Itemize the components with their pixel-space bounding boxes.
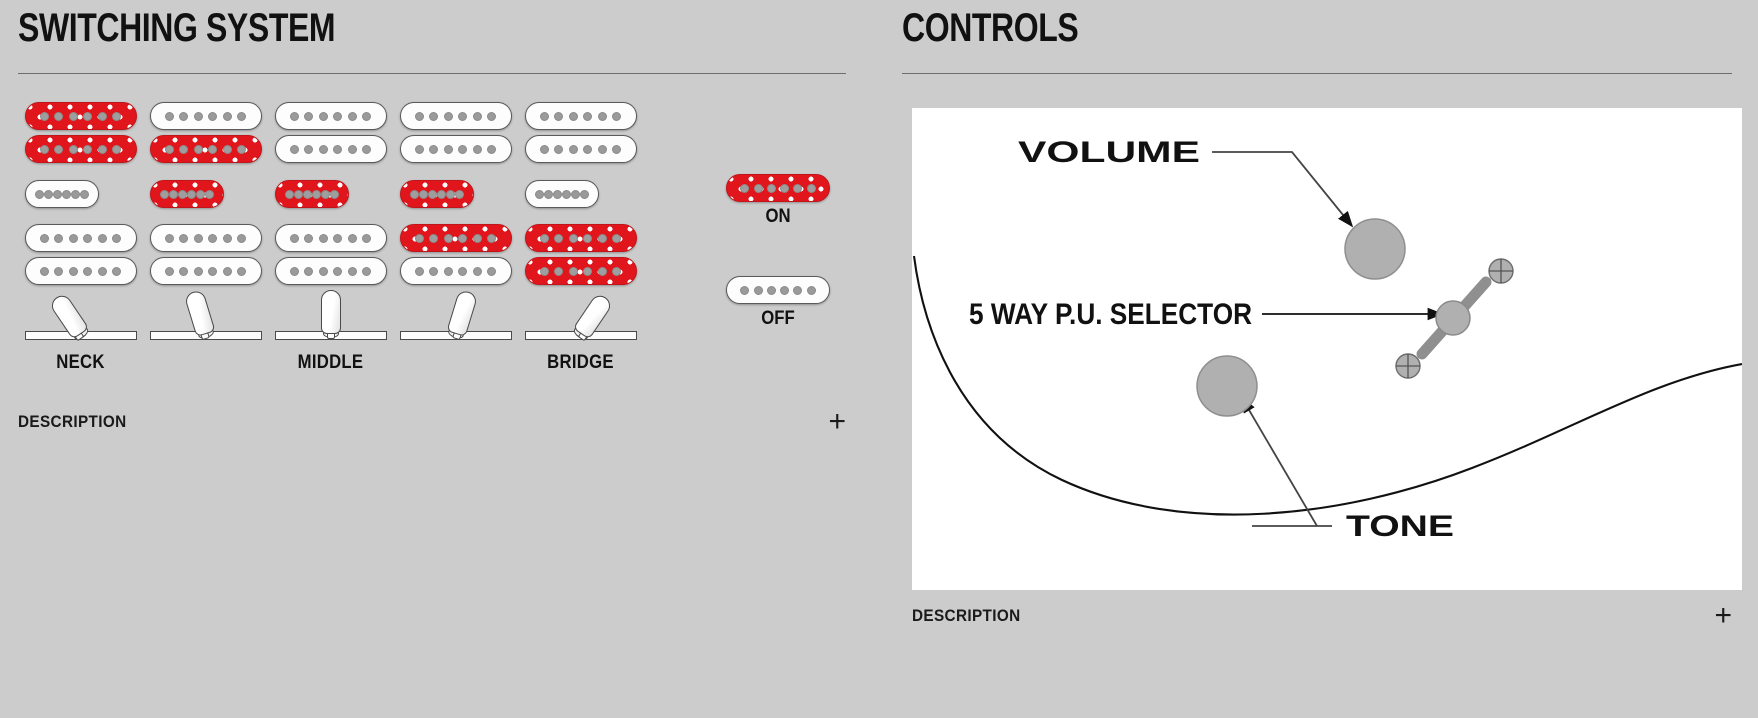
- tone-leader-line: [1242, 398, 1317, 526]
- pole-piece: [179, 234, 188, 243]
- pole-piece: [415, 234, 424, 243]
- pole-piece: [444, 145, 453, 154]
- pole-piece: [179, 145, 188, 154]
- pickup-neck-humbucker: [400, 102, 512, 164]
- pickup-coil-on: [525, 224, 637, 252]
- pole-piece: [165, 234, 174, 243]
- pole-piece: [544, 190, 553, 199]
- row-spacer: [518, 164, 643, 180]
- pole-piece: [535, 190, 544, 199]
- pole-piece: [98, 234, 107, 243]
- title-divider-switching: [18, 73, 846, 74]
- lever-switch-4[interactable]: [400, 286, 512, 350]
- pickup-coil-off: [25, 257, 137, 285]
- row-spacer: [268, 164, 393, 180]
- pickup-coil-off: [25, 180, 99, 208]
- tone-knob[interactable]: [1197, 356, 1257, 416]
- pole-piece: [208, 234, 217, 243]
- position-label-5: BRIDGE: [526, 352, 636, 374]
- pickup-neck-humbucker: [150, 102, 262, 164]
- description-bar-controls[interactable]: DESCRIPTION +: [912, 606, 1732, 626]
- pole-piece: [321, 190, 330, 199]
- volume-knob[interactable]: [1345, 219, 1405, 279]
- pole-piece: [444, 234, 453, 243]
- pole-piece: [303, 190, 312, 199]
- pole-piece: [69, 112, 78, 121]
- pickup-bridge-humbucker: [275, 224, 387, 286]
- pole-piece: [237, 234, 246, 243]
- pole-piece: [458, 267, 467, 276]
- lever-switch-1[interactable]: [25, 286, 137, 350]
- pole-piece: [223, 267, 232, 276]
- pickup-coil-off: [150, 224, 262, 252]
- pickup-coil-off: [275, 224, 387, 252]
- description-label-controls: DESCRIPTION: [912, 606, 1021, 626]
- pole-piece: [208, 112, 217, 121]
- pole-piece: [69, 267, 78, 276]
- pole-piece: [112, 112, 121, 121]
- pole-piece: [54, 267, 63, 276]
- pole-piece: [458, 145, 467, 154]
- pole-piece: [612, 234, 621, 243]
- pickup-neck-humbucker: [275, 102, 387, 164]
- pole-piece: [362, 267, 371, 276]
- pole-piece: [223, 145, 232, 154]
- pole-piece: [333, 267, 342, 276]
- pole-piece: [429, 267, 438, 276]
- pole-piece: [487, 234, 496, 243]
- pickup-bridge-humbucker: [25, 224, 137, 286]
- lever-switch-2[interactable]: [150, 286, 262, 350]
- guitar-body-outline: [914, 256, 1742, 515]
- pole-piece: [540, 112, 549, 121]
- pole-piece: [458, 234, 467, 243]
- pole-piece: [473, 234, 482, 243]
- lever-knob[interactable]: [321, 290, 341, 334]
- pole-piece: [473, 267, 482, 276]
- row-spacer: [268, 208, 393, 224]
- controls-diagram: VOLUME 5 WAY P.U. SELECTOR TONE: [912, 108, 1742, 590]
- pole-piece: [290, 267, 299, 276]
- plus-icon[interactable]: +: [1714, 606, 1732, 626]
- pole-piece: [83, 234, 92, 243]
- pole-piece: [194, 267, 203, 276]
- pickup-coil-off: [400, 135, 512, 163]
- title-divider-controls: [902, 73, 1732, 74]
- legend-coil-off: [726, 276, 830, 304]
- pole-piece: [793, 286, 802, 295]
- pole-piece: [304, 267, 313, 276]
- lever-knob[interactable]: [446, 289, 478, 337]
- pickup-middle-singlecoil: [275, 180, 387, 208]
- selector-screw-upper: [1489, 259, 1513, 283]
- pole-piece: [54, 234, 63, 243]
- row-spacer: [393, 164, 518, 180]
- pole-piece: [362, 112, 371, 121]
- pole-piece: [598, 267, 607, 276]
- pole-piece: [444, 267, 453, 276]
- pole-piece: [285, 190, 294, 199]
- pole-piece: [330, 190, 339, 199]
- pickup-coil-on: [275, 180, 349, 208]
- pole-piece: [429, 112, 438, 121]
- pickup-coil-on: [400, 180, 474, 208]
- pole-piece: [571, 190, 580, 199]
- pickup-neck-humbucker: [25, 102, 137, 164]
- pole-piece: [754, 184, 763, 193]
- pole-piece: [754, 286, 763, 295]
- pickup-coil-off: [525, 102, 637, 130]
- pole-piece: [540, 234, 549, 243]
- pole-piece: [554, 112, 563, 121]
- legend-coil-on: [726, 174, 830, 202]
- pole-piece: [40, 234, 49, 243]
- legend-label-off: OFF: [725, 308, 831, 330]
- pickup-coil-off: [400, 257, 512, 285]
- pole-piece: [112, 145, 121, 154]
- pole-piece: [179, 112, 188, 121]
- pole-piece: [429, 145, 438, 154]
- pole-piece: [237, 145, 246, 154]
- pole-piece: [304, 234, 313, 243]
- pole-piece: [333, 112, 342, 121]
- page-title-switching: SWITCHING SYSTEM: [18, 0, 680, 51]
- position-label-3: MIDDLE: [276, 352, 386, 374]
- description-label-switching: DESCRIPTION: [18, 412, 127, 432]
- pole-piece: [569, 112, 578, 121]
- pole-piece: [419, 190, 428, 199]
- pickup-coil-on: [150, 135, 262, 163]
- pole-piece: [208, 267, 217, 276]
- pole-piece: [569, 267, 578, 276]
- pole-piece: [446, 190, 455, 199]
- pole-piece: [780, 286, 789, 295]
- pickup-coil-on: [150, 180, 224, 208]
- pole-piece: [554, 145, 563, 154]
- row-spacer: [143, 208, 268, 224]
- pole-piece: [179, 267, 188, 276]
- pole-piece: [767, 184, 776, 193]
- pickup-coil-off: [275, 257, 387, 285]
- pole-piece: [44, 190, 53, 199]
- pole-piece: [312, 190, 321, 199]
- pole-piece: [455, 190, 464, 199]
- pickup-coil-off: [525, 180, 599, 208]
- pickup-coil-on: [25, 102, 137, 130]
- lever-switch-3[interactable]: [275, 286, 387, 350]
- coil-off-sample: [726, 276, 830, 304]
- pole-piece: [540, 145, 549, 154]
- pole-piece: [348, 234, 357, 243]
- switching-system-panel: SWITCHING SYSTEM NECKMIDDLEBRIDGE: [0, 0, 880, 718]
- row-spacer: [143, 164, 268, 180]
- selector-switch[interactable]: [1436, 301, 1470, 335]
- switch-position-3[interactable]: MIDDLE: [268, 102, 393, 374]
- position-label-2: [151, 352, 261, 374]
- pole-piece: [583, 234, 592, 243]
- pole-piece: [165, 145, 174, 154]
- pole-piece: [348, 145, 357, 154]
- pole-piece: [437, 190, 446, 199]
- pole-piece: [580, 190, 589, 199]
- pole-piece: [40, 145, 49, 154]
- row-spacer: [393, 208, 518, 224]
- position-label-4: [401, 352, 511, 374]
- pole-piece: [69, 234, 78, 243]
- pole-piece: [348, 267, 357, 276]
- on-off-legend: ON OFF: [718, 174, 838, 330]
- pickup-middle-singlecoil: [525, 180, 637, 208]
- pole-piece: [612, 267, 621, 276]
- pole-piece: [223, 234, 232, 243]
- pickup-coil-off: [275, 102, 387, 130]
- pole-piece: [98, 112, 107, 121]
- pole-piece: [165, 267, 174, 276]
- pole-piece: [583, 112, 592, 121]
- pole-piece: [196, 190, 205, 199]
- pole-piece: [40, 267, 49, 276]
- pole-piece: [583, 267, 592, 276]
- page-title-controls: CONTROLS: [902, 0, 1566, 51]
- switch-position-2[interactable]: [143, 102, 268, 374]
- callout-label-selector: 5 WAY P.U. SELECTOR: [969, 298, 1252, 331]
- pole-piece: [487, 145, 496, 154]
- pole-piece: [740, 286, 749, 295]
- coil-on-sample: [726, 174, 830, 202]
- pole-piece: [793, 184, 802, 193]
- pole-piece: [333, 234, 342, 243]
- pole-piece: [598, 234, 607, 243]
- pole-piece: [83, 145, 92, 154]
- volume-leader-line: [1212, 152, 1352, 226]
- pole-piece: [205, 190, 214, 199]
- lever-switch-5[interactable]: [525, 286, 637, 350]
- pole-piece: [54, 145, 63, 154]
- pickup-coil-off: [150, 257, 262, 285]
- pole-piece: [415, 112, 424, 121]
- selector-screw-lower: [1396, 354, 1420, 378]
- pole-piece: [553, 190, 562, 199]
- pole-piece: [194, 112, 203, 121]
- pickup-coil-on: [525, 257, 637, 285]
- spec-page: SWITCHING SYSTEM NECKMIDDLEBRIDGE: [0, 0, 1758, 718]
- pole-piece: [160, 190, 169, 199]
- pole-piece: [83, 112, 92, 121]
- pole-piece: [187, 190, 196, 199]
- pole-piece: [223, 112, 232, 121]
- pole-piece: [444, 112, 453, 121]
- pickup-middle-singlecoil: [25, 180, 137, 208]
- pole-piece: [294, 190, 303, 199]
- pole-piece: [194, 234, 203, 243]
- position-label-1: NECK: [26, 352, 136, 374]
- pole-piece: [473, 145, 482, 154]
- pickup-coil-off: [400, 102, 512, 130]
- pickup-bridge-humbucker: [150, 224, 262, 286]
- pole-piece: [290, 234, 299, 243]
- legend-item-on: ON: [718, 174, 838, 228]
- pole-piece: [429, 234, 438, 243]
- row-spacer: [18, 164, 143, 180]
- switch-position-4[interactable]: [393, 102, 518, 374]
- pole-piece: [54, 112, 63, 121]
- pole-piece: [290, 112, 299, 121]
- callout-label-volume: VOLUME: [1018, 136, 1200, 169]
- pole-piece: [612, 145, 621, 154]
- legend-label-on: ON: [725, 206, 831, 228]
- pole-piece: [540, 267, 549, 276]
- pole-piece: [487, 112, 496, 121]
- pole-piece: [780, 184, 789, 193]
- pole-piece: [612, 112, 621, 121]
- switch-position-5[interactable]: BRIDGE: [518, 102, 643, 374]
- pole-piece: [767, 286, 776, 295]
- pickup-coil-on: [400, 224, 512, 252]
- pole-piece: [562, 190, 571, 199]
- switch-position-1[interactable]: NECK: [18, 102, 143, 374]
- pole-piece: [333, 145, 342, 154]
- pole-piece: [569, 234, 578, 243]
- pickup-coil-off: [525, 135, 637, 163]
- lever-knob[interactable]: [183, 289, 215, 337]
- pole-piece: [362, 234, 371, 243]
- pole-piece: [69, 145, 78, 154]
- pole-piece: [237, 267, 246, 276]
- pole-piece: [807, 286, 816, 295]
- pole-piece: [458, 112, 467, 121]
- pole-piece: [807, 184, 816, 193]
- pickup-coil-off: [25, 224, 137, 252]
- pole-piece: [487, 267, 496, 276]
- pole-piece: [554, 234, 563, 243]
- pole-piece: [194, 145, 203, 154]
- pole-piece: [80, 190, 89, 199]
- pole-piece: [83, 267, 92, 276]
- legend-item-off: OFF: [718, 276, 838, 330]
- row-spacer: [18, 208, 143, 224]
- pole-piece: [169, 190, 178, 199]
- pickup-coil-on: [25, 135, 137, 163]
- pole-piece: [62, 190, 71, 199]
- pole-piece: [304, 145, 313, 154]
- pickup-neck-humbucker: [525, 102, 637, 164]
- row-spacer: [518, 208, 643, 224]
- pickup-middle-singlecoil: [400, 180, 512, 208]
- pole-piece: [53, 190, 62, 199]
- pole-piece: [40, 112, 49, 121]
- pickup-coil-off: [275, 135, 387, 163]
- pickup-coil-off: [150, 102, 262, 130]
- pole-piece: [35, 190, 44, 199]
- pole-piece: [178, 190, 187, 199]
- pole-piece: [237, 112, 246, 121]
- pole-piece: [98, 145, 107, 154]
- pole-piece: [290, 145, 299, 154]
- pole-piece: [598, 145, 607, 154]
- pole-piece: [348, 112, 357, 121]
- pole-piece: [473, 112, 482, 121]
- pole-piece: [112, 234, 121, 243]
- pole-piece: [740, 184, 749, 193]
- pole-piece: [112, 267, 121, 276]
- pole-piece: [415, 145, 424, 154]
- pole-piece: [598, 112, 607, 121]
- plus-icon[interactable]: +: [828, 412, 846, 432]
- pole-piece: [583, 145, 592, 154]
- description-bar-switching[interactable]: DESCRIPTION +: [18, 412, 846, 432]
- pole-piece: [208, 145, 217, 154]
- pole-piece: [415, 267, 424, 276]
- pickup-bridge-humbucker: [525, 224, 637, 286]
- callout-label-tone: TONE: [1346, 510, 1454, 543]
- pole-piece: [319, 112, 328, 121]
- pole-piece: [71, 190, 80, 199]
- pole-piece: [98, 267, 107, 276]
- pole-piece: [319, 267, 328, 276]
- pole-piece: [362, 145, 371, 154]
- pole-piece: [428, 190, 437, 199]
- pickup-bridge-humbucker: [400, 224, 512, 286]
- switching-matrix: NECKMIDDLEBRIDGE ON: [18, 102, 846, 402]
- pole-piece: [304, 112, 313, 121]
- pole-piece: [410, 190, 419, 199]
- pole-piece: [319, 145, 328, 154]
- pole-piece: [569, 145, 578, 154]
- pole-piece: [165, 112, 174, 121]
- pickup-middle-singlecoil: [150, 180, 262, 208]
- pole-piece: [554, 267, 563, 276]
- pole-piece: [319, 234, 328, 243]
